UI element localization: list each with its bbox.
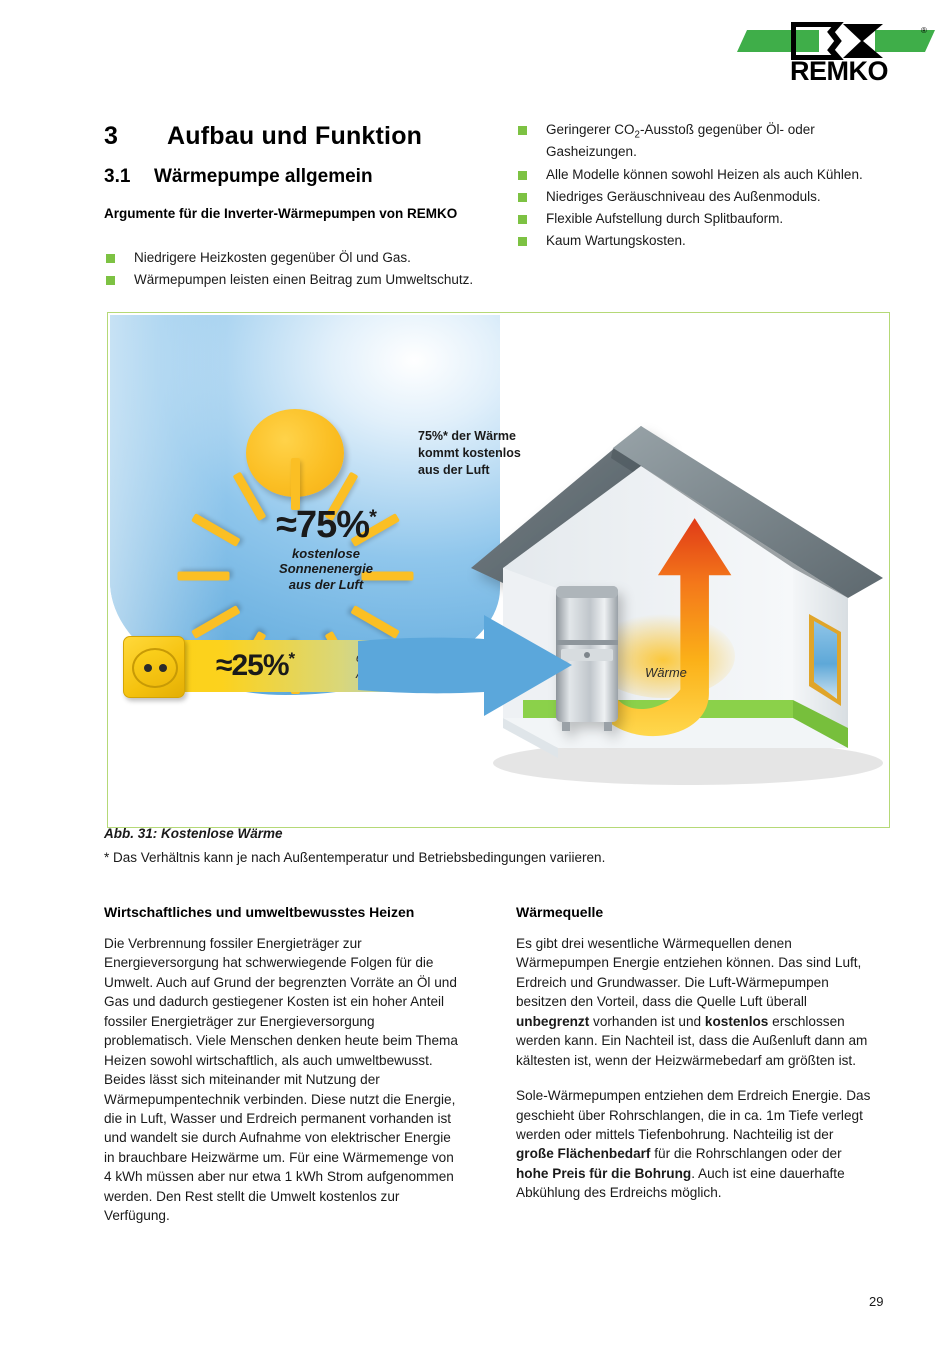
chapter-heading: 3Aufbau und Funktion (104, 122, 422, 151)
section-heading: 3.1Wärmepumpe allgemein (104, 166, 373, 188)
figure-kostenlose-waerme: ≈75%* kostenlose Sonnenenergie aus der L… (107, 312, 890, 828)
chapter-number: 3 (104, 122, 167, 151)
list-item-label: Flexible Aufstellung durch Splitbauform. (546, 211, 783, 226)
column-left-paragraph: Die Verbrennung fossiler Energieträger z… (104, 934, 462, 1226)
benefits-list-left: Niedrigere Heizkosten gegenüber Öl und G… (104, 248, 476, 292)
registered-trademark-icon: ® (921, 26, 927, 35)
list-item-label: Wärmepumpen leisten einen Beitrag zum Um… (134, 272, 473, 287)
column-left-title: Wirtschaftliches und umweltbewusstes Hei… (104, 904, 462, 920)
bullet-square-icon (518, 171, 527, 180)
socket-hole-left (144, 664, 152, 672)
section-number: 3.1 (104, 166, 154, 188)
socket-ring (132, 648, 178, 688)
remko-mark-icon (791, 22, 886, 60)
bullet-square-icon (518, 215, 527, 224)
sun-percent-callout: ≈75%* kostenlose Sonnenenergie aus der L… (231, 506, 421, 592)
list-item: Niedrigere Heizkosten gegenüber Öl und G… (104, 248, 476, 267)
list-item-label: Geringerer CO2-Ausstoß gegenüber Öl- ode… (546, 122, 815, 159)
list-item-label: Niedrigere Heizkosten gegenüber Öl und G… (134, 250, 411, 265)
remko-logo: ® REMKO (735, 18, 935, 80)
list-item-label: Alle Modelle können sowohl Heizen als au… (546, 167, 863, 182)
bullet-square-icon (518, 126, 527, 135)
socket-hole-right (159, 664, 167, 672)
bullet-square-icon (106, 276, 115, 285)
column-right-paragraph: Sole-Wärmepumpen entziehen dem Erdreich … (516, 1086, 874, 1203)
sun-percent-value: ≈75%* (231, 506, 421, 544)
air-flow-arrow-icon (358, 613, 573, 718)
power-socket-icon (123, 636, 185, 698)
footnote-star: * (369, 506, 376, 528)
page-number: 29 (869, 1294, 883, 1309)
list-item: Geringerer CO2-Ausstoß gegenüber Öl- ode… (516, 120, 896, 162)
list-item: Flexible Aufstellung durch Splitbauform. (516, 209, 896, 228)
bullet-square-icon (518, 237, 527, 246)
heat-label: Wärme (645, 665, 687, 680)
figure-caption: Abb. 31: Kostenlose Wärme (104, 826, 283, 841)
column-right-title: Wärmequelle (516, 904, 874, 920)
list-item: Niedriges Geräuschniveau des Außenmoduls… (516, 187, 896, 206)
figure-footnote: * Das Verhältnis kann je nach Außentempe… (104, 850, 605, 865)
list-item: Alle Modelle können sowohl Heizen als au… (516, 165, 896, 184)
list-item: Wärmepumpen leisten einen Beitrag zum Um… (104, 270, 476, 289)
column-right: Wärmequelle Es gibt drei wesentliche Wär… (516, 904, 874, 1219)
bullet-square-icon (518, 193, 527, 202)
section-title: Wärmepumpe allgemein (154, 166, 373, 187)
bullet-square-icon (106, 254, 115, 263)
list-item-label: Kaum Wartungskosten. (546, 233, 686, 248)
column-left: Wirtschaftliches und umweltbewusstes Hei… (104, 904, 462, 1242)
list-item: Kaum Wartungskosten. (516, 231, 896, 250)
logo-wordmark: REMKO (790, 56, 888, 87)
sun-percent-sublabel: kostenlose Sonnenenergie aus der Luft (231, 546, 421, 592)
lead-paragraph: Argumente für die Inverter-Wärmepumpen v… (104, 205, 464, 223)
chapter-title: Aufbau und Funktion (167, 122, 422, 150)
column-right-paragraph: Es gibt drei wesentliche Wärmequellen de… (516, 934, 874, 1070)
footnote-star: * (289, 649, 295, 668)
list-item-label: Niedriges Geräuschniveau des Außenmoduls… (546, 189, 821, 204)
electric-percent-value: ≈25%* (216, 649, 294, 683)
benefits-list-right: Geringerer CO2-Ausstoß gegenüber Öl- ode… (516, 120, 896, 253)
